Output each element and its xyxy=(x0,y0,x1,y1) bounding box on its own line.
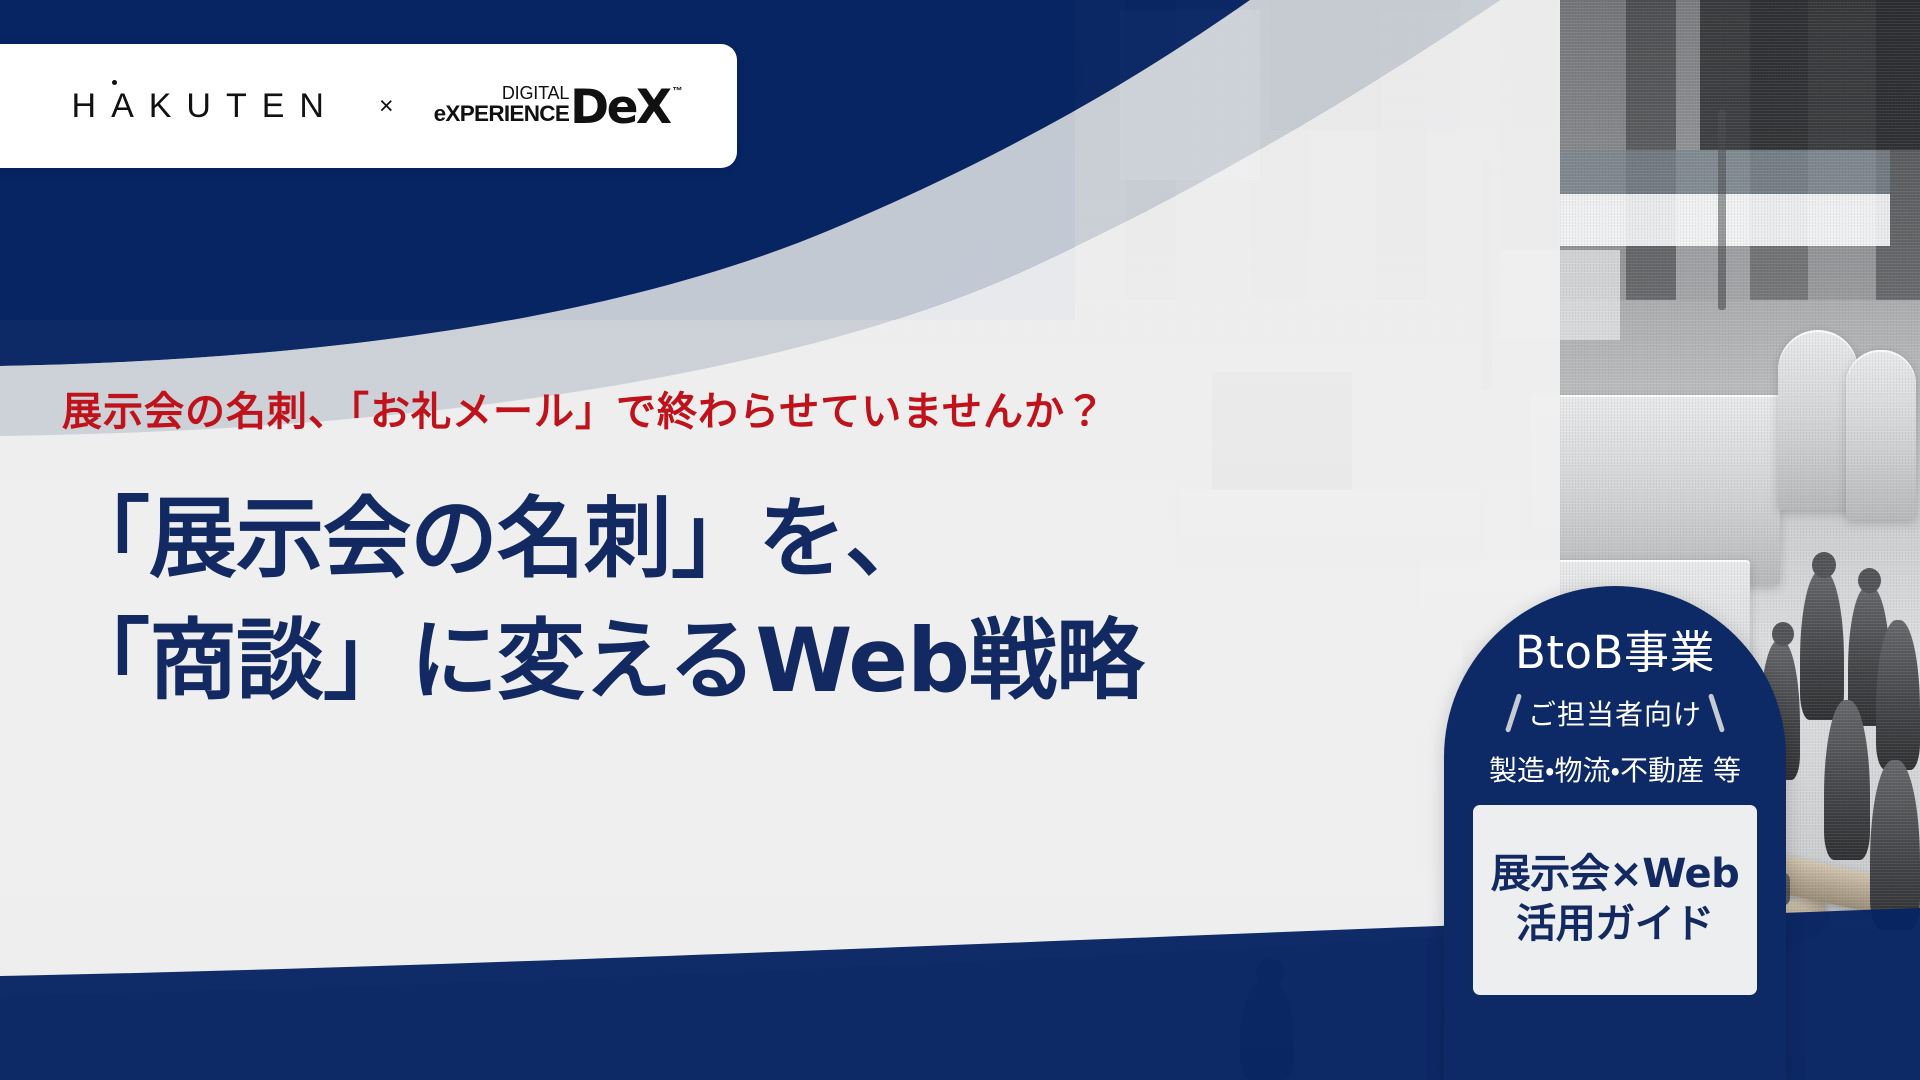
badge-subtitle-row: ご担当者向け xyxy=(1511,693,1719,733)
trademark-icon: ™ xyxy=(672,86,682,97)
badge-industries: 製造・物流・不動産 等 xyxy=(1489,749,1741,789)
slash-left-icon xyxy=(1505,693,1522,733)
dex-logo: DIGITAL eXPERIENCE DeX ™ xyxy=(434,84,670,128)
guide-title-line-2: 活用ガイド xyxy=(1516,902,1714,948)
guide-title-box: 展示会×Web 活用ガイド xyxy=(1473,805,1757,995)
dex-experience-text: eXPERIENCE xyxy=(434,103,570,126)
collab-x-icon: × xyxy=(379,94,394,119)
hakuten-logo: HAKUTEN xyxy=(68,87,339,126)
headline-line-2: 「商談」に変えるWeb戦略 xyxy=(62,604,1143,718)
logo-lockup-card: HAKUTEN × DIGITAL eXPERIENCE DeX ™ xyxy=(0,44,737,168)
guide-title-line-1: 展示会×Web xyxy=(1491,852,1739,898)
lead-question: 展示会の名刺、「お礼メール」で終わらせていませんか？ xyxy=(62,388,1143,436)
badge-subtitle: ご担当者向け xyxy=(1528,693,1702,733)
poster-canvas: HAKUTEN × DIGITAL eXPERIENCE DeX ™ 展示会の名… xyxy=(0,0,1920,1080)
slash-right-icon xyxy=(1708,693,1725,733)
audience-badge: BtoB事業 ご担当者向け 製造・物流・不動産 等 展示会×Web 活用ガイド xyxy=(1444,586,1786,1080)
copy-block: 展示会の名刺、「お礼メール」で終わらせていませんか？ 「展示会の名刺」を、 「商… xyxy=(62,388,1143,719)
badge-title: BtoB事業 xyxy=(1515,630,1715,675)
headline-line-1: 「展示会の名刺」を、 xyxy=(62,482,1143,596)
dex-wordmark: DeX xyxy=(570,88,669,127)
page-title: 「展示会の名刺」を、 「商談」に変えるWeb戦略 xyxy=(62,482,1143,719)
hakuten-accent-dot xyxy=(112,80,117,85)
hakuten-logo-text: HAKUTEN xyxy=(72,87,339,125)
dex-digital-text: DIGITAL xyxy=(502,84,569,102)
